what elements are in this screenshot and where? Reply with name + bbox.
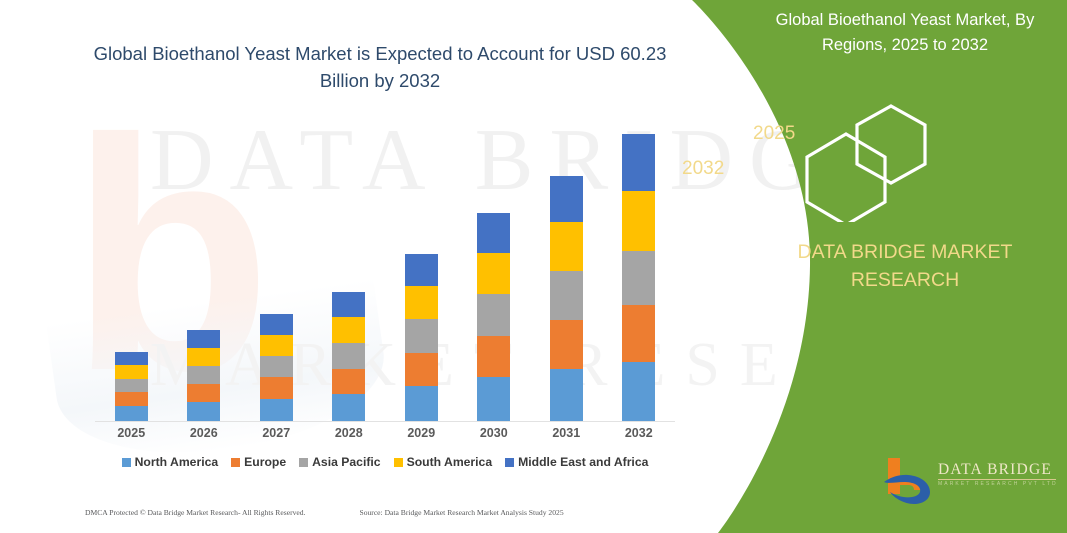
x-tick-2029: 2029 [385, 426, 458, 440]
legend-swatch-icon [231, 458, 240, 467]
x-tick-2025: 2025 [95, 426, 168, 440]
x-axis-line [95, 421, 675, 422]
bar-column [385, 125, 458, 421]
right-green-panel: Global Bioethanol Yeast Market, By Regio… [640, 0, 1067, 533]
legend-item[interactable]: Middle East and Africa [505, 455, 648, 469]
bar-segment [622, 251, 655, 304]
logo-divider [938, 479, 1056, 480]
bar-column [530, 125, 603, 421]
bar-segment [115, 352, 148, 365]
bar-segment [550, 320, 583, 369]
stacked-bar-2026 [187, 330, 220, 421]
hexagon-2032-icon [807, 134, 885, 222]
bar-segment [405, 286, 438, 319]
bar-segment [477, 294, 510, 336]
bar-segment [187, 348, 220, 366]
legend-label: Asia Pacific [312, 455, 380, 469]
bar-segment [260, 377, 293, 398]
bar-segment [477, 377, 510, 421]
logo-wordmark: DATA BRIDGE [938, 461, 1052, 479]
x-tick-2028: 2028 [313, 426, 386, 440]
x-tick-2027: 2027 [240, 426, 313, 440]
bar-segment [332, 394, 365, 421]
legend-swatch-icon [299, 458, 308, 467]
bar-segment [477, 213, 510, 253]
data-bridge-logo: DATA BRIDGE MARKET RESEARCH PVT LTD [880, 452, 1067, 514]
bar-segment [550, 271, 583, 320]
legend-item[interactable]: Europe [231, 455, 286, 469]
footer: DMCA Protected © Data Bridge Market Rese… [85, 508, 675, 517]
stacked-bar-2030 [477, 213, 510, 421]
infographic-canvas: b DATA BRIDGE MARKET RESEARCH Global Bio… [0, 0, 1067, 533]
panel-title: Global Bioethanol Yeast Market, By Regio… [750, 8, 1060, 58]
x-tick-2026: 2026 [168, 426, 241, 440]
bar-segment [405, 319, 438, 352]
hexagon-2025-label: 2025 [753, 123, 795, 145]
chart-legend: North AmericaEuropeAsia PacificSouth Ame… [95, 455, 675, 469]
bar-segment [260, 356, 293, 377]
legend-item[interactable]: North America [122, 455, 219, 469]
bar-segment [550, 222, 583, 271]
bar-column [168, 125, 241, 421]
legend-label: North America [135, 455, 219, 469]
hexagon-2032-label: 2032 [682, 158, 724, 180]
footer-source: Source: Data Bridge Market Research Mark… [359, 508, 563, 517]
stacked-bar-2025 [115, 352, 148, 421]
x-tick-2032: 2032 [603, 426, 676, 440]
bar-segment [622, 305, 655, 363]
stacked-bar-2031 [550, 176, 583, 421]
stacked-bar-2027 [260, 314, 293, 421]
bar-column [95, 125, 168, 421]
hexagon-icons [795, 92, 1065, 222]
bar-segment [187, 402, 220, 421]
legend-label: South America [407, 455, 493, 469]
bar-segment [187, 366, 220, 384]
bar-column [240, 125, 313, 421]
bar-segment [332, 343, 365, 369]
bar-segment [332, 317, 365, 342]
bar-segment [405, 254, 438, 286]
bar-segment [405, 353, 438, 386]
panel-brand-name: DATA BRIDGE MARKET RESEARCH [750, 238, 1060, 294]
bar-segment [332, 369, 365, 395]
bar-segment [332, 292, 365, 317]
bar-segment [550, 176, 583, 222]
bar-segment [115, 392, 148, 406]
bar-segment [260, 335, 293, 356]
legend-swatch-icon [505, 458, 514, 467]
legend-swatch-icon [394, 458, 403, 467]
bar-segment [622, 362, 655, 421]
legend-swatch-icon [122, 458, 131, 467]
chart-plot-area [95, 125, 675, 421]
chart-title: Global Bioethanol Yeast Market is Expect… [90, 40, 670, 94]
bar-segment [115, 406, 148, 421]
bar-segment [115, 365, 148, 378]
x-tick-2031: 2031 [530, 426, 603, 440]
stacked-bar-2032 [622, 134, 655, 421]
x-tick-2030: 2030 [458, 426, 531, 440]
legend-item[interactable]: South America [394, 455, 493, 469]
bar-segment [260, 314, 293, 335]
bar-segment [477, 253, 510, 294]
footer-copyright: DMCA Protected © Data Bridge Market Rese… [85, 508, 305, 517]
logo-mark-icon [880, 452, 936, 508]
stacked-bar-2029 [405, 254, 438, 421]
bar-segment [187, 384, 220, 402]
x-axis-tick-labels: 20252026202720282029203020312032 [95, 426, 675, 440]
bar-segment [405, 386, 438, 421]
hexagon-group [795, 92, 1065, 222]
legend-label: Middle East and Africa [518, 455, 648, 469]
bar-segment [260, 399, 293, 421]
bar-segment [187, 330, 220, 348]
bar-segment [622, 191, 655, 251]
bar-column [458, 125, 531, 421]
legend-item[interactable]: Asia Pacific [299, 455, 380, 469]
bar-column [313, 125, 386, 421]
bar-column [603, 125, 676, 421]
hexagon-2025-icon [857, 106, 925, 183]
bar-segment [550, 369, 583, 421]
bar-segment [477, 336, 510, 378]
logo-tagline: MARKET RESEARCH PVT LTD [938, 481, 1058, 487]
legend-label: Europe [244, 455, 286, 469]
stacked-bar-group [95, 125, 675, 421]
bar-segment [622, 134, 655, 192]
bar-segment [115, 379, 148, 393]
stacked-bar-2028 [332, 292, 365, 421]
